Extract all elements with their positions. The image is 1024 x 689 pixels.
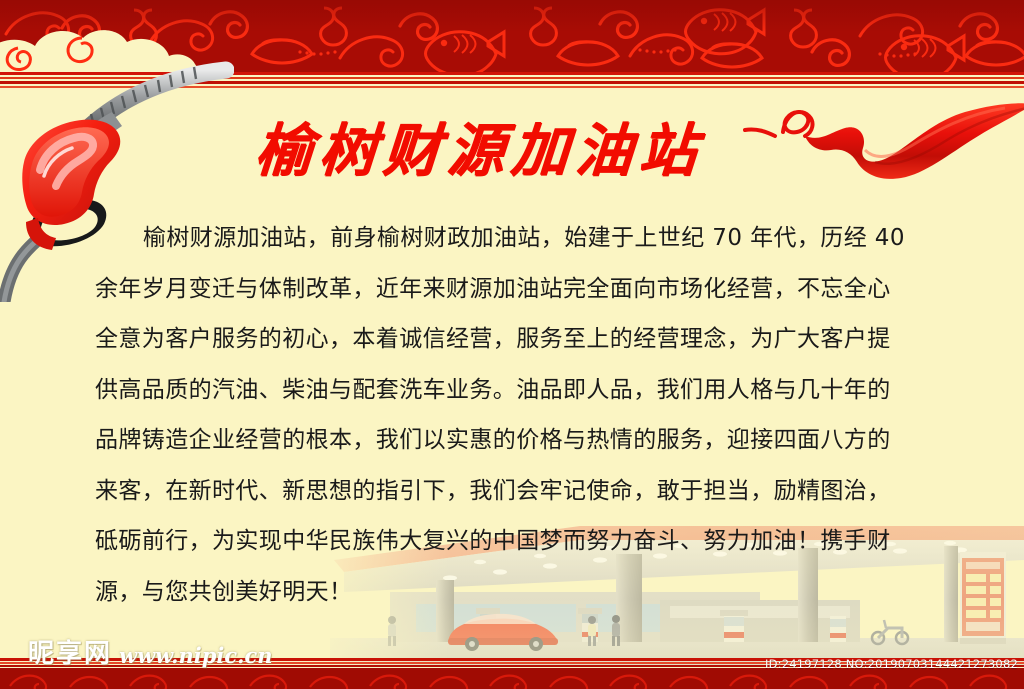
watermark-url: www.nipic.cn <box>119 645 273 667</box>
body-line: 余年岁月变迁与体制改革，近年来财源加油站完全面向市场化经营，不忘全心 <box>95 264 955 315</box>
image-id-tag: ID:24197128 NO:20190703144421273082 <box>765 657 1018 671</box>
body-line: 品牌铸造企业经营的根本，我们以实惠的价格与热情的服务，迎接四面八方的 <box>95 415 955 466</box>
body-line: 源，与您共创美好明天！ <box>95 567 955 618</box>
body-line: 供高品质的汽油、柴油与配套洗车业务。油品即人品，我们用人格与几十年的 <box>95 365 955 416</box>
footer-pattern-band <box>0 668 1024 689</box>
body-line: 榆树财源加油站，前身榆树财政加油站，始建于上世纪 70 年代，历经 40 <box>95 213 955 264</box>
body-text: 榆树财源加油站，前身榆树财政加油站，始建于上世纪 70 年代，历经 40 余年岁… <box>95 213 955 617</box>
red-ribbon-icon <box>735 88 1024 188</box>
page-title: 榆树财源加油站 <box>252 112 778 192</box>
poster-canvas: 榆树财源加油站 <box>0 0 1024 689</box>
body-line: 砥砺前行，为实现中华民族伟大复兴的中国梦而努力奋斗、努力加油！携手财 <box>95 516 955 567</box>
body-line: 来客，在新时代、新思想的指引下，我们会牢记使命，敢于担当，励精图治， <box>95 466 955 517</box>
footer-pattern-icon <box>0 668 1024 689</box>
watermark-brand: 昵享网 <box>28 641 112 667</box>
site-watermark: 昵享网 www.nipic.cn <box>28 641 273 667</box>
body-line: 全意为客户服务的初心，本着诚信经营，服务至上的经营理念，为广大客户提 <box>95 314 955 365</box>
